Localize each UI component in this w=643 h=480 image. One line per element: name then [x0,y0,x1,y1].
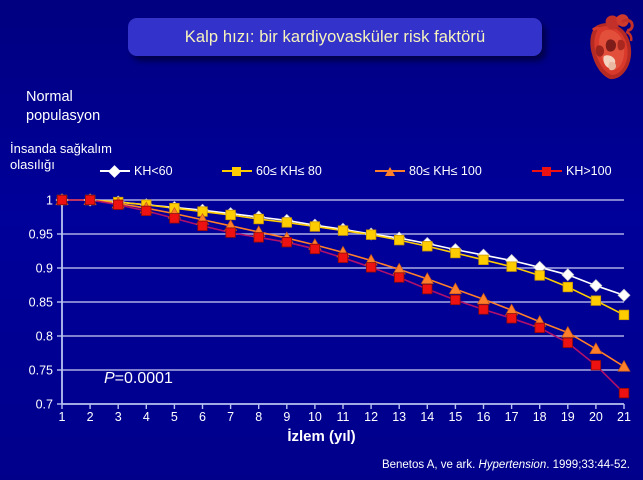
xtick-label-10: 11 [337,410,350,424]
data-point-1-18 [563,282,573,292]
data-point-2-14 [449,283,461,294]
xtick-label-19: 20 [589,410,603,424]
ytick-label-2: 0.8 [36,330,53,344]
xtick-label-15: 16 [477,410,491,424]
xtick-label-8: 9 [283,410,290,424]
data-point-3-2 [113,200,123,210]
data-point-0-18 [562,269,574,281]
data-point-3-7 [254,233,264,243]
data-point-0-19 [590,280,602,292]
chart-svg: 0.70.750.80.850.90.951123456789101112131… [0,0,643,480]
data-point-3-19 [591,360,601,370]
xtick-label-18: 19 [561,410,575,424]
data-point-2-15 [478,293,490,304]
ytick-label-6: 1 [46,194,53,208]
ytick-label-3: 0.85 [29,296,53,310]
xtick-label-5: 6 [199,410,206,424]
data-point-1-19 [591,296,601,306]
data-point-1-16 [507,262,516,272]
ytick-label-5: 0.95 [29,228,53,242]
data-point-3-0 [57,195,67,205]
data-point-3-16 [507,314,516,324]
p-value-annotation: P=0.0001 [104,370,173,388]
p-value-symbol: P [104,370,115,387]
xtick-label-7: 8 [255,410,262,424]
data-point-3-13 [423,284,433,294]
data-point-2-20 [618,361,630,372]
data-point-1-14 [451,248,461,257]
data-point-3-5 [198,221,208,231]
data-point-1-12 [394,235,404,245]
chart-plot-area: 0.70.750.80.850.90.951123456789101112131… [0,0,643,480]
slide-canvas: Kalp hızı: bir kardiyovasküler risk fakt… [0,0,643,480]
xtick-label-1: 2 [87,410,94,424]
series-markers-2 [56,194,630,371]
xtick-label-11: 12 [364,410,378,424]
data-point-3-6 [226,228,236,238]
data-point-3-4 [170,214,180,224]
citation-journal: Hypertension [478,459,546,471]
data-point-0-20 [618,289,630,301]
citation-volume: . 1999;33:44-52. [546,459,630,471]
data-point-1-20 [619,310,629,320]
data-point-3-1 [85,195,95,205]
data-point-1-17 [535,271,545,281]
data-point-2-18 [562,327,574,338]
ytick-label-0: 0.7 [36,398,53,412]
xtick-label-14: 15 [448,410,462,424]
ytick-label-4: 0.9 [36,262,53,276]
citation-authors: Benetos A, ve ark. [382,459,479,471]
ytick-label-1: 0.75 [29,364,53,378]
data-point-3-8 [282,237,292,247]
xtick-label-4: 5 [171,410,178,424]
xtick-label-17: 18 [533,410,547,424]
xtick-label-16: 17 [505,410,519,424]
data-point-3-15 [479,305,489,315]
x-axis-title: İzlem (yıl) [0,428,643,445]
xtick-label-9: 10 [308,410,322,424]
data-point-1-10 [338,226,348,236]
data-point-3-18 [563,338,573,348]
xtick-label-6: 7 [227,410,234,424]
data-point-3-3 [142,206,152,216]
data-point-1-6 [226,210,236,220]
data-point-3-12 [394,273,404,283]
data-point-3-11 [366,263,376,273]
data-point-1-15 [479,255,489,265]
data-point-3-17 [535,323,545,333]
xtick-label-3: 4 [143,410,150,424]
xtick-label-20: 21 [617,410,631,424]
data-point-3-14 [451,295,461,305]
data-point-1-8 [282,218,292,228]
data-point-1-9 [310,222,320,232]
p-value-number: =0.0001 [115,370,173,387]
data-point-1-11 [366,230,376,240]
data-point-1-13 [423,241,433,251]
xtick-label-0: 1 [59,410,66,424]
data-point-3-20 [619,388,629,398]
xtick-label-12: 13 [392,410,406,424]
data-point-1-7 [254,214,264,224]
data-point-3-10 [338,253,348,262]
xtick-label-2: 3 [115,410,122,424]
xtick-label-13: 14 [420,410,434,424]
data-point-2-19 [590,343,602,354]
data-point-3-9 [310,244,320,254]
citation-text: Benetos A, ve ark. Hypertension. 1999;33… [0,459,630,471]
